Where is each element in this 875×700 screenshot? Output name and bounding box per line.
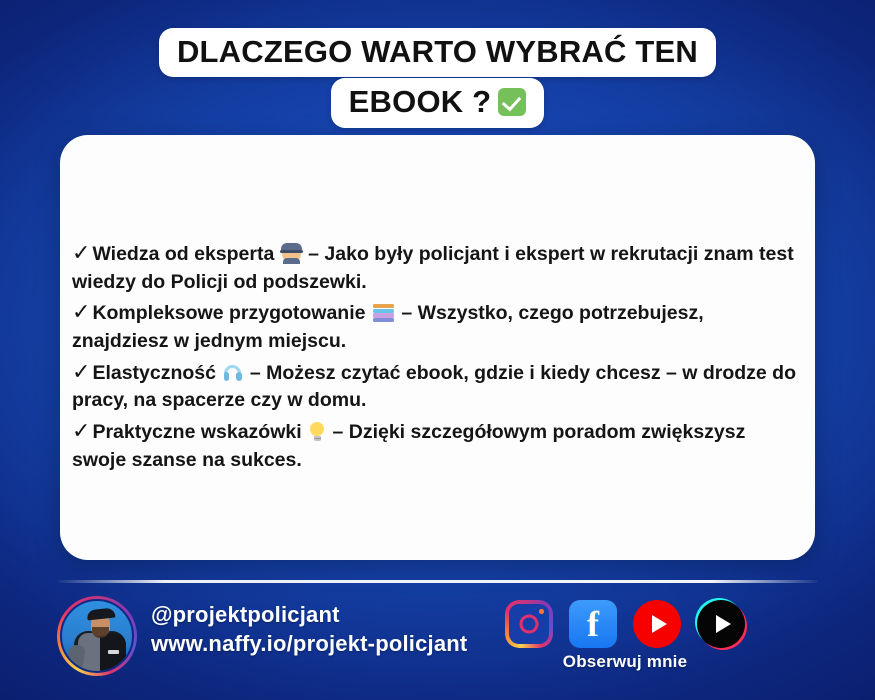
footer: @projektpolicjant www.naffy.io/projekt-p…	[0, 592, 875, 692]
content-card: ✓Wiedza od eksperta – Jako były policjan…	[60, 135, 815, 560]
tiktok-icon[interactable]	[697, 600, 745, 648]
instagram-handle: @projektpolicjant	[151, 600, 467, 629]
title-line-2: EBOOK ?	[331, 78, 545, 127]
list-item: ✓Praktyczne wskazówki – Dzięki szczegóło…	[72, 415, 803, 474]
check-mark-icon: ✓	[72, 359, 92, 384]
avatar	[57, 596, 137, 676]
bullet-lead-text: Praktyczne wskazówki	[92, 421, 301, 443]
list-item: ✓Kompleksowe przygotowanie – Wszystko, c…	[72, 296, 803, 355]
contact-info: @projektpolicjant www.naffy.io/projekt-p…	[151, 600, 467, 658]
check-mark-icon: ✓	[72, 418, 92, 443]
list-item: ✓Elastyczność – Możesz czytać ebook, gdz…	[72, 356, 803, 415]
social-icon-row: f	[505, 600, 745, 648]
bullet-lead-text: Kompleksowe przygotowanie	[92, 302, 365, 324]
books-icon	[373, 304, 394, 322]
bullet-lead-text: Elastyczność	[92, 362, 216, 384]
instagram-icon[interactable]	[505, 600, 553, 648]
check-mark-icon: ✓	[72, 299, 92, 324]
bullet-list: ✓Wiedza od eksperta – Jako były policjan…	[72, 237, 803, 475]
title-line-1: DLACZEGO WARTO WYBRAĆ TEN	[159, 28, 716, 77]
website-url[interactable]: www.naffy.io/projekt-policjant	[151, 629, 467, 658]
page-title: DLACZEGO WARTO WYBRAĆ TEN EBOOK ?	[0, 28, 875, 128]
bullet-lead-text: Wiedza od eksperta	[92, 243, 274, 265]
follow-me-label: Obserwuj mnie	[505, 652, 745, 672]
check-mark-icon: ✓	[72, 240, 92, 265]
youtube-icon[interactable]	[633, 600, 681, 648]
police-officer-icon	[282, 244, 301, 263]
headphones-icon	[223, 365, 242, 382]
poster-canvas: DLACZEGO WARTO WYBRAĆ TEN EBOOK ? ✓Wiedz…	[0, 0, 875, 700]
light-bulb-icon	[309, 422, 325, 441]
facebook-icon[interactable]: f	[569, 600, 617, 648]
list-item: ✓Wiedza od eksperta – Jako były policjan…	[72, 237, 803, 296]
footer-divider	[58, 580, 818, 583]
white-check-mark-icon	[498, 88, 526, 116]
avatar-photo	[60, 599, 134, 673]
title-line-2-text: EBOOK ?	[349, 84, 492, 119]
